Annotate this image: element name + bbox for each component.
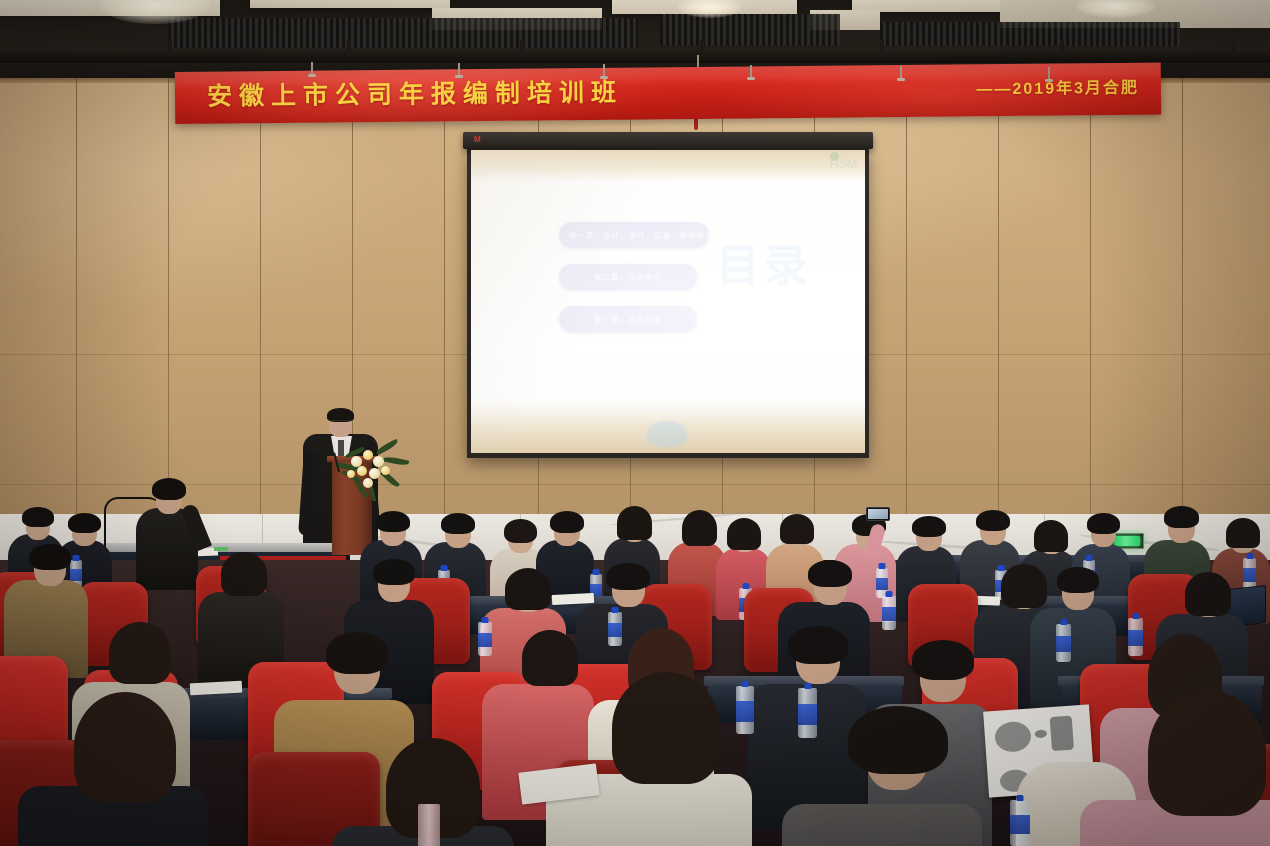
screen-brand-logo: M	[474, 135, 500, 144]
banner-hook	[1048, 67, 1050, 80]
water-bottle[interactable]	[418, 804, 440, 846]
ceiling-truss	[0, 52, 1270, 63]
slide-item-2: 第二章：监管要点	[559, 264, 697, 290]
banner-hook	[750, 65, 752, 78]
slide-logo: RSM	[830, 156, 857, 171]
slide-item-2-label: 第二章：监管要点	[594, 272, 662, 283]
flower-arrangement	[339, 442, 401, 502]
water-bottle[interactable]	[736, 686, 754, 734]
water-bottle[interactable]	[608, 612, 622, 646]
banner-title: 安徽上市公司年报编制培训班	[207, 77, 623, 113]
water-bottle[interactable]	[1010, 800, 1030, 846]
water-bottle[interactable]	[1243, 558, 1256, 590]
event-banner: 安徽上市公司年报编制培训班 ——2019年3月合肥	[175, 63, 1161, 124]
banner-hook	[458, 63, 460, 76]
banner-date: ——2019年3月合肥	[976, 77, 1139, 103]
water-bottle[interactable]	[478, 622, 492, 656]
slide-item-3: 第三章：问答问题	[559, 306, 697, 332]
banner-hook	[900, 66, 902, 79]
projection-screen: RSM 第一章：会计、审计、监管、税收新规 第二章：监管要点 第三章：问答问题 …	[471, 150, 865, 453]
water-bottle[interactable]	[882, 596, 896, 630]
speaker-glasses	[331, 420, 350, 425]
slide-item-1-label: 第一章：会计、审计、监管、税收新规	[569, 230, 714, 241]
slide-item-3-label: 第三章：问答问题	[594, 314, 662, 325]
water-bottle[interactable]	[798, 688, 817, 738]
banner-hook	[603, 64, 605, 77]
smartphone[interactable]	[866, 507, 890, 521]
projection-screen-housing: M	[463, 132, 873, 149]
slide-heading: 目录	[716, 245, 812, 289]
slide-badge	[647, 421, 687, 447]
conference-photo: 安徽上市公司年报编制培训班 ——2019年3月合肥 M RSM 第一章：会计、审…	[0, 0, 1270, 846]
table-green-item	[214, 547, 228, 551]
water-bottle[interactable]	[1056, 624, 1071, 662]
slide-item-1: 第一章：会计、审计、监管、税收新规	[559, 222, 709, 248]
banner-hook	[311, 62, 313, 75]
water-bottle[interactable]	[1128, 618, 1143, 656]
